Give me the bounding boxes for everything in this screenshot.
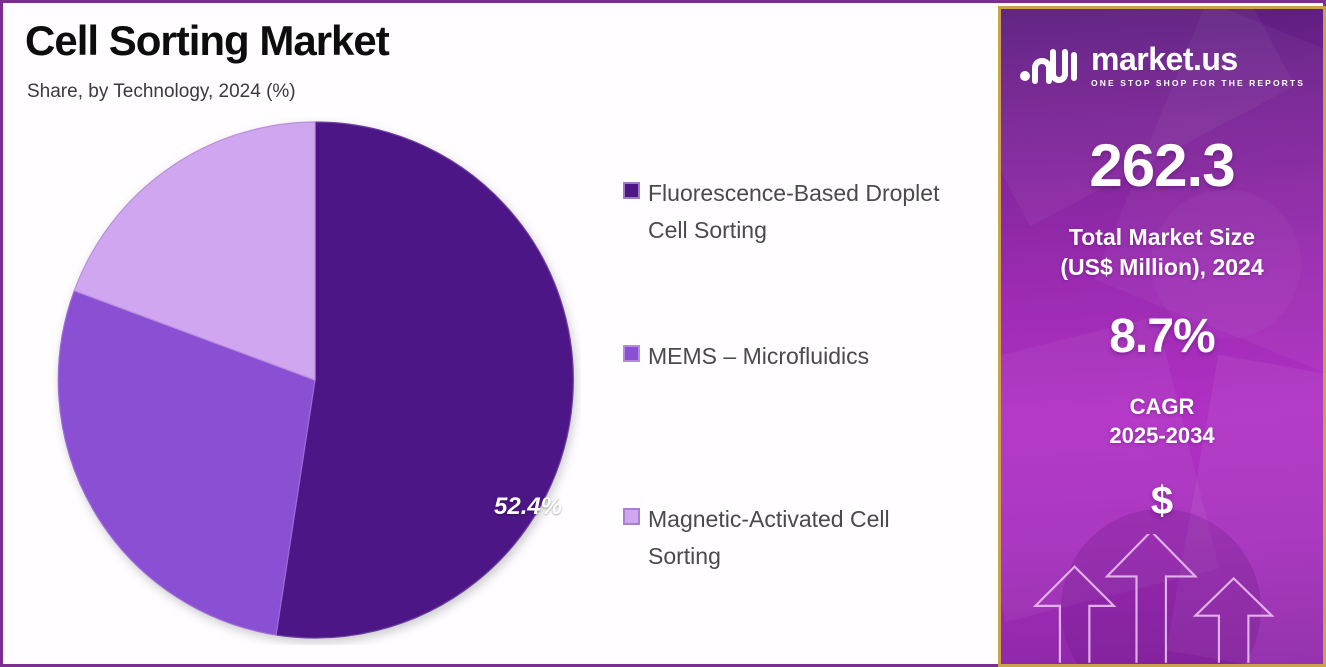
market-us-logo-icon — [1019, 46, 1081, 86]
pie-svg — [53, 115, 581, 645]
cagr-caption: CAGR 2025-2034 — [1001, 392, 1323, 451]
legend-label: Magnetic-Activated Cell Sorting — [648, 501, 968, 575]
cagr-value: 8.7% — [1001, 309, 1323, 364]
brand-tagline: ONE STOP SHOP FOR THE REPORTS — [1091, 78, 1305, 88]
legend-label: Fluorescence-Based Droplet Cell Sorting — [648, 175, 968, 249]
market-size-value: 262.3 — [1001, 131, 1323, 200]
legend-item-mems[interactable]: MEMS – Microfluidics — [623, 338, 869, 375]
pie-slice-label-fluorescence: 52.4% — [494, 493, 562, 521]
page-title: Cell Sorting Market — [25, 19, 389, 63]
brand-name: market.us — [1091, 43, 1238, 75]
legend-label: MEMS – Microfluidics — [648, 338, 869, 375]
cagr-caption-line2: 2025-2034 — [1001, 421, 1323, 450]
growth-arrows-icon — [1001, 534, 1323, 664]
dollar-sign-icon: $ — [1001, 479, 1323, 524]
chart-panel: Cell Sorting Market Share, by Technology… — [3, 3, 995, 664]
pie-slice-fluorescence — [276, 122, 573, 638]
legend-item-fluorescence[interactable]: Fluorescence-Based Droplet Cell Sorting — [623, 175, 968, 249]
legend-swatch-icon — [623, 508, 640, 525]
pie-chart: 52.4% — [53, 115, 581, 645]
legend-swatch-icon — [623, 345, 640, 362]
cagr-caption-line1: CAGR — [1001, 392, 1323, 421]
chart-subtitle: Share, by Technology, 2024 (%) — [27, 81, 296, 103]
legend-swatch-icon — [623, 182, 640, 199]
pie-slices — [58, 122, 573, 638]
brand-logo: market.us ONE STOP SHOP FOR THE REPORTS — [1001, 43, 1323, 88]
market-size-caption-line2: (US$ Million), 2024 — [1001, 252, 1323, 282]
market-size-caption-line1: Total Market Size — [1001, 222, 1323, 252]
legend-item-magnetic[interactable]: Magnetic-Activated Cell Sorting — [623, 501, 968, 575]
infographic-frame: Cell Sorting Market Share, by Technology… — [0, 0, 1326, 667]
market-size-caption: Total Market Size (US$ Million), 2024 — [1001, 222, 1323, 283]
stats-sidebar: market.us ONE STOP SHOP FOR THE REPORTS … — [998, 6, 1326, 667]
